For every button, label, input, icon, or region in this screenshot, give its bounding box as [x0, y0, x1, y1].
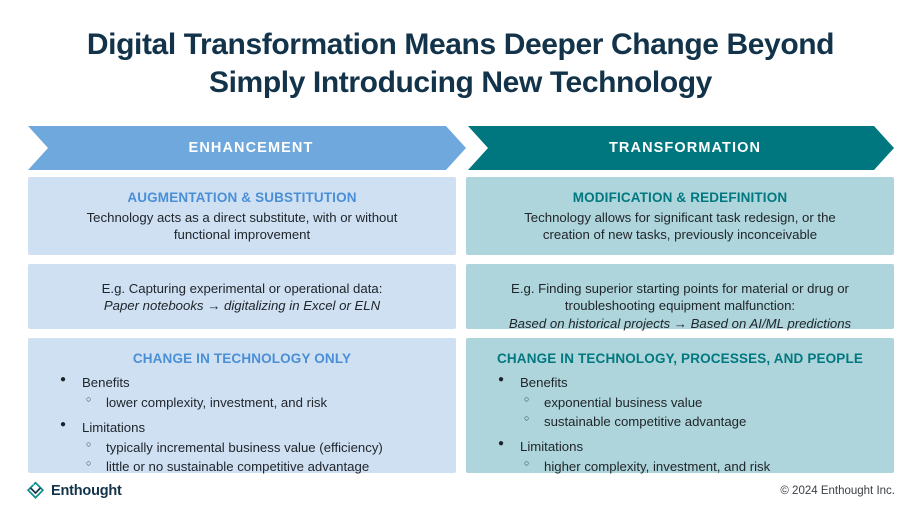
- page-title: Digital Transformation Means Deeper Chan…: [0, 26, 921, 102]
- example-line-1: E.g. Capturing experimental or operation…: [102, 281, 383, 296]
- definition-line-2: creation of new tasks, previously inconc…: [543, 227, 817, 242]
- bullet-group-label: Limitations: [82, 420, 145, 435]
- header-chevron-transformation: TRANSFORMATION: [468, 126, 894, 170]
- bullet-group-label: Benefits: [82, 375, 130, 390]
- card-body-transformation-example: E.g. Finding superior starting points fo…: [480, 280, 880, 332]
- header-label-enhancement: ENHANCEMENT: [189, 140, 314, 156]
- card-heading-modification-redefinition: MODIFICATION & REDEFINITION: [480, 190, 880, 205]
- list-item: Limitations typically incremental busine…: [42, 418, 442, 476]
- bullet-group-label: Benefits: [520, 375, 568, 390]
- card-heading-augmentation-substitution: AUGMENTATION & SUBSTITUTION: [42, 190, 442, 205]
- bullet-group-label: Limitations: [520, 439, 583, 454]
- brand-name: Enthought: [51, 483, 122, 499]
- example-line-2: Paper notebooks → digitalizing in Excel …: [104, 298, 380, 313]
- card-transformation-example: E.g. Finding superior starting points fo…: [466, 264, 894, 329]
- column-enhancement: AUGMENTATION & SUBSTITUTION Technology a…: [28, 177, 456, 482]
- card-transformation-impact: CHANGE IN TECHNOLOGY, PROCESSES, AND PEO…: [466, 338, 894, 473]
- brand-lockup: Enthought: [26, 481, 122, 500]
- list-item: little or no sustainable competitive adv…: [82, 457, 442, 476]
- slide-canvas: Digital Transformation Means Deeper Chan…: [0, 0, 921, 509]
- list-item: typically incremental business value (ef…: [82, 438, 442, 457]
- list-item: higher complexity, investment, and risk: [520, 457, 880, 476]
- page-title-line-2: Simply Introducing New Technology: [0, 64, 921, 102]
- list-item: Limitations higher complexity, investmen…: [480, 437, 880, 476]
- header-label-transformation: TRANSFORMATION: [609, 140, 761, 156]
- sub-list: typically incremental business value (ef…: [82, 438, 442, 476]
- sub-list: higher complexity, investment, and risk: [520, 457, 880, 476]
- column-transformation: MODIFICATION & REDEFINITION Technology a…: [466, 177, 894, 482]
- page-title-line-1: Digital Transformation Means Deeper Chan…: [0, 26, 921, 64]
- card-enhancement-impact: CHANGE IN TECHNOLOGY ONLY Benefits lower…: [28, 338, 456, 473]
- card-enhancement-example: E.g. Capturing experimental or operation…: [28, 264, 456, 329]
- copyright-text: © 2024 Enthought Inc.: [780, 485, 895, 497]
- definition-line-2: functional improvement: [174, 227, 310, 242]
- column-headers: ENHANCEMENT TRANSFORMATION: [28, 126, 894, 170]
- definition-line-1: Technology allows for significant task r…: [524, 210, 836, 225]
- card-body-enhancement-definition: Technology acts as a direct substitute, …: [42, 209, 442, 244]
- list-item: Benefits exponential business value sust…: [480, 373, 880, 431]
- example-line-3: Based on historical projects → Based on …: [509, 316, 851, 331]
- footer: Enthought © 2024 Enthought Inc.: [0, 478, 921, 509]
- example-line-1: E.g. Finding superior starting points fo…: [511, 281, 849, 296]
- impact-list-transformation: Benefits exponential business value sust…: [480, 373, 880, 476]
- card-body-transformation-definition: Technology allows for significant task r…: [480, 209, 880, 244]
- example-line-2: troubleshooting equipment malfunction:: [565, 298, 795, 313]
- sub-list: exponential business value sustainable c…: [520, 393, 880, 431]
- card-heading-change-in-technology-processes-people: CHANGE IN TECHNOLOGY, PROCESSES, AND PEO…: [480, 351, 880, 366]
- list-item: Benefits lower complexity, investment, a…: [42, 373, 442, 412]
- list-item: exponential business value: [520, 393, 880, 412]
- definition-line-1: Technology acts as a direct substitute, …: [87, 210, 398, 225]
- card-heading-change-in-technology-only: CHANGE IN TECHNOLOGY ONLY: [42, 351, 442, 366]
- impact-list-enhancement: Benefits lower complexity, investment, a…: [42, 373, 442, 476]
- header-chevron-enhancement: ENHANCEMENT: [28, 126, 466, 170]
- card-body-enhancement-example: E.g. Capturing experimental or operation…: [42, 280, 442, 315]
- card-transformation-definition: MODIFICATION & REDEFINITION Technology a…: [466, 177, 894, 255]
- sub-list: lower complexity, investment, and risk: [82, 393, 442, 412]
- card-enhancement-definition: AUGMENTATION & SUBSTITUTION Technology a…: [28, 177, 456, 255]
- list-item: sustainable competitive advantage: [520, 412, 880, 431]
- enthought-diamond-logo-icon: [26, 481, 45, 500]
- list-item: lower complexity, investment, and risk: [82, 393, 442, 412]
